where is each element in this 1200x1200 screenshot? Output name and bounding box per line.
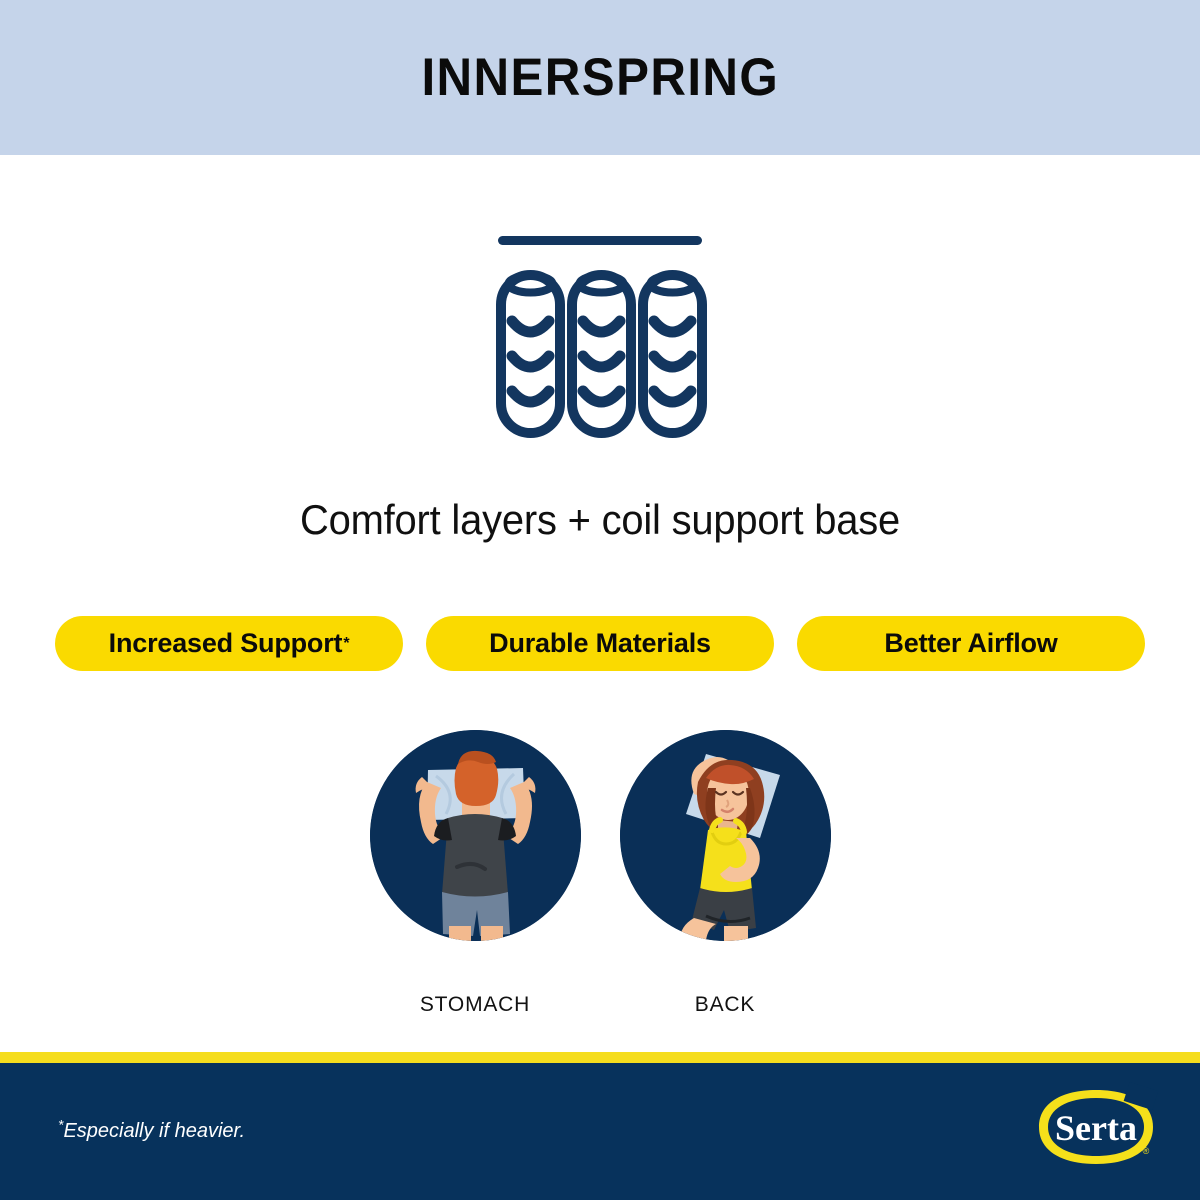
registered-mark: ® [1143, 1146, 1150, 1156]
coil-cylinder-3 [643, 275, 702, 433]
serta-wordmark: Serta [1055, 1108, 1137, 1148]
coil-cylinder-2 [572, 275, 631, 433]
sleep-position-label: BACK [695, 993, 755, 1017]
sleep-positions-row: STOMACH [0, 730, 1200, 1017]
page-title: INNERSPRING [421, 47, 779, 108]
benefits-row: Increased Support* Durable Materials Bet… [55, 616, 1145, 671]
coil-springs-icon [490, 228, 710, 446]
benefit-label: Increased Support [109, 628, 343, 659]
benefit-pill-better-airflow[interactable]: Better Airflow [797, 616, 1145, 671]
sleep-position-back[interactable]: BACK [618, 730, 833, 1017]
coil-cylinder-1 [501, 275, 560, 433]
support-bar-shape [498, 236, 702, 245]
infographic-page: INNERSPRING [0, 0, 1200, 1200]
sleep-position-label: STOMACH [420, 993, 530, 1017]
benefit-pill-durable-materials[interactable]: Durable Materials [426, 616, 774, 671]
footer-accent-stripe [0, 1052, 1200, 1063]
footnote-text: Especially if heavier. [63, 1120, 245, 1142]
sleep-position-stomach[interactable]: STOMACH [368, 730, 583, 1017]
benefit-label: Better Airflow [884, 628, 1057, 659]
serta-logo[interactable]: Serta ® [1030, 1082, 1162, 1172]
benefit-label: Durable Materials [489, 628, 711, 659]
stomach-sleeper-illustration [370, 730, 581, 941]
subtitle-text: Comfort layers + coil support base [30, 496, 1170, 544]
back-sleeper-illustration [620, 730, 831, 941]
footnote: *Especially if heavier. [58, 1120, 245, 1143]
header-band: INNERSPRING [0, 0, 1200, 155]
benefit-pill-increased-support[interactable]: Increased Support* [55, 616, 403, 671]
